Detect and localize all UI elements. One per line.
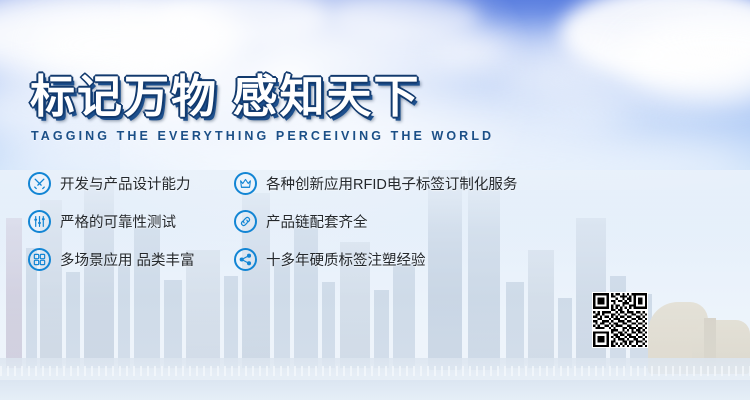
- qr-code[interactable]: [592, 292, 648, 348]
- sliders-icon: [28, 210, 51, 233]
- feature-item-rfid-customization: 各种创新应用RFID电子标签订制化服务: [234, 172, 517, 195]
- feature-item-supply-chain: 产品链配套齐全: [234, 210, 368, 233]
- banner-content: 标记万物 感知天下 TAGGING THE EVERYTHING PERCEIV…: [0, 0, 750, 400]
- page-title: 标记万物 感知天下: [30, 74, 421, 119]
- link-icon: [234, 210, 257, 233]
- crown-icon: [234, 172, 257, 195]
- page-subtitle: TAGGING THE EVERYTHING PERCEIVING THE WO…: [31, 129, 494, 143]
- feature-label: 多场景应用 品类丰富: [60, 249, 195, 270]
- feature-item-scenarios: 多场景应用 品类丰富: [28, 248, 195, 271]
- feature-item-experience: 十多年硬质标签注塑经验: [234, 248, 426, 271]
- feature-item-reliability: 严格的可靠性测试: [28, 210, 176, 233]
- feature-item-development: 开发与产品设计能力: [28, 172, 191, 195]
- feature-label: 各种创新应用RFID电子标签订制化服务: [266, 173, 517, 194]
- feature-label: 产品链配套齐全: [266, 211, 368, 232]
- rfid-promo-banner: 标记万物 感知天下 TAGGING THE EVERYTHING PERCEIV…: [0, 0, 750, 400]
- feature-label: 开发与产品设计能力: [60, 173, 191, 194]
- share-icon: [234, 248, 257, 271]
- grid-icon: [28, 248, 51, 271]
- tools-icon: [28, 172, 51, 195]
- feature-label: 十多年硬质标签注塑经验: [266, 249, 426, 270]
- feature-label: 严格的可靠性测试: [60, 211, 176, 232]
